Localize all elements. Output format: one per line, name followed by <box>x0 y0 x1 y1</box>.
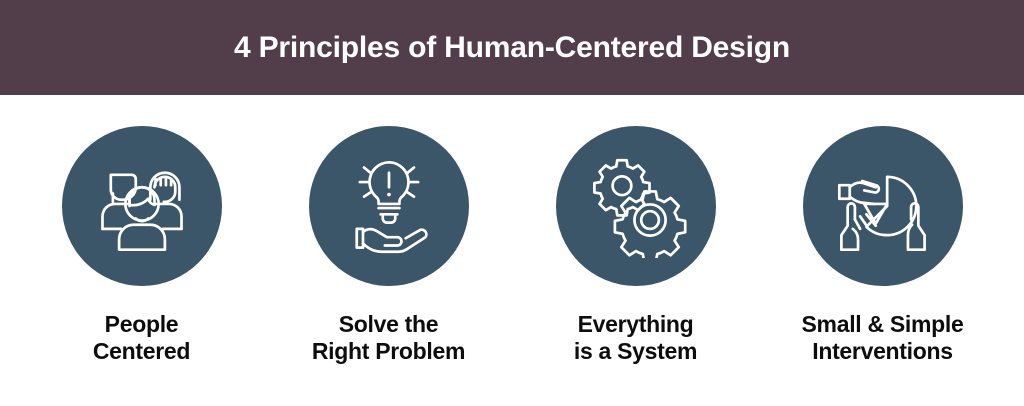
header-band: 4 Principles of Human-Centered Design <box>0 0 1024 95</box>
infographic-root: 4 Principles of Human-Centered Design <box>0 0 1024 406</box>
principle-label-4: Small & Simple Interventions <box>802 311 964 365</box>
principle-card-solve-right-problem[interactable]: Solve the Right Problem <box>273 95 505 365</box>
hand-holding-lightbulb-icon <box>337 154 441 258</box>
hands-holding-pie-piece-icon <box>831 154 935 258</box>
icon-circle-2 <box>309 126 469 286</box>
people-group-icon <box>90 154 194 258</box>
principle-card-people-centered[interactable]: People Centered <box>26 95 258 365</box>
principle-label-3: Everything is a System <box>574 311 697 365</box>
principle-card-small-simple-interventions[interactable]: Small & Simple Interventions <box>767 95 999 365</box>
icon-circle-4 <box>803 126 963 286</box>
page-title: 4 Principles of Human-Centered Design <box>234 33 790 63</box>
gears-system-icon <box>584 154 688 258</box>
principles-row: People Centered <box>0 95 1024 406</box>
icon-circle-3 <box>556 126 716 286</box>
principle-label-1: People Centered <box>93 311 190 365</box>
principle-label-2: Solve the Right Problem <box>312 311 465 365</box>
icon-circle-1 <box>62 126 222 286</box>
principle-card-everything-is-a-system[interactable]: Everything is a System <box>520 95 752 365</box>
